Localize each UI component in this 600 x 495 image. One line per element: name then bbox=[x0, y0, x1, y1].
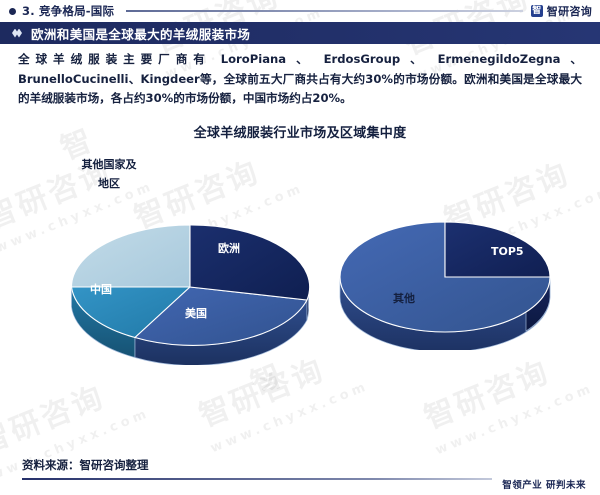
chart-area: 欧洲 美国 中国 其他国家及地区 bbox=[0, 145, 600, 445]
header-divider bbox=[126, 10, 523, 12]
pie-slice-europe bbox=[190, 225, 310, 300]
brand-logo-icon: 智 bbox=[531, 5, 543, 17]
footer-divider bbox=[22, 478, 492, 480]
pie-label-china: 中国 bbox=[90, 281, 112, 297]
pie-label-europe: 欧洲 bbox=[218, 240, 240, 256]
pie-chart-concentration: TOP5 其他 bbox=[335, 215, 555, 350]
brand-logo: 智 智研咨询 bbox=[531, 3, 592, 19]
pie-slice-others bbox=[72, 225, 191, 287]
pie-label-usa: 美国 bbox=[185, 305, 207, 321]
brand-logo-text: 智研咨询 bbox=[547, 3, 592, 19]
section-label: 3. 竞争格局-国际 bbox=[22, 3, 114, 19]
page-footer: 资料来源：智研咨询整理 智领产业 研判未来 bbox=[0, 457, 600, 495]
pie-label-other-firms: 其他 bbox=[393, 290, 415, 306]
pie-chart-regional: 欧洲 美国 中国 bbox=[60, 195, 320, 365]
bullet-icon bbox=[9, 8, 16, 15]
pie-concentration-svg bbox=[335, 215, 555, 350]
pie-label-top5: TOP5 bbox=[491, 245, 524, 258]
pie-label-others: 其他国家及地区 bbox=[80, 155, 138, 193]
chart-title: 全球羊绒服装行业市场及区域集中度 bbox=[0, 122, 600, 141]
source-note: 资料来源：智研咨询整理 bbox=[22, 457, 149, 473]
pie-regional-svg bbox=[60, 195, 320, 365]
body-paragraph: 全球羊绒服装主要厂商有 LoroPiana 、 ErdosGroup 、 Erm… bbox=[18, 50, 582, 109]
banner-title: 欧洲和美国是全球最大的羊绒服装市场 bbox=[31, 24, 250, 43]
footer-slogan: 智领产业 研判未来 bbox=[502, 477, 586, 491]
diamond-bullet-icon bbox=[12, 29, 23, 38]
page-header: 3. 竞争格局-国际 智 智研咨询 bbox=[0, 0, 600, 22]
section-banner: 欧洲和美国是全球最大的羊绒服装市场 bbox=[0, 22, 600, 44]
